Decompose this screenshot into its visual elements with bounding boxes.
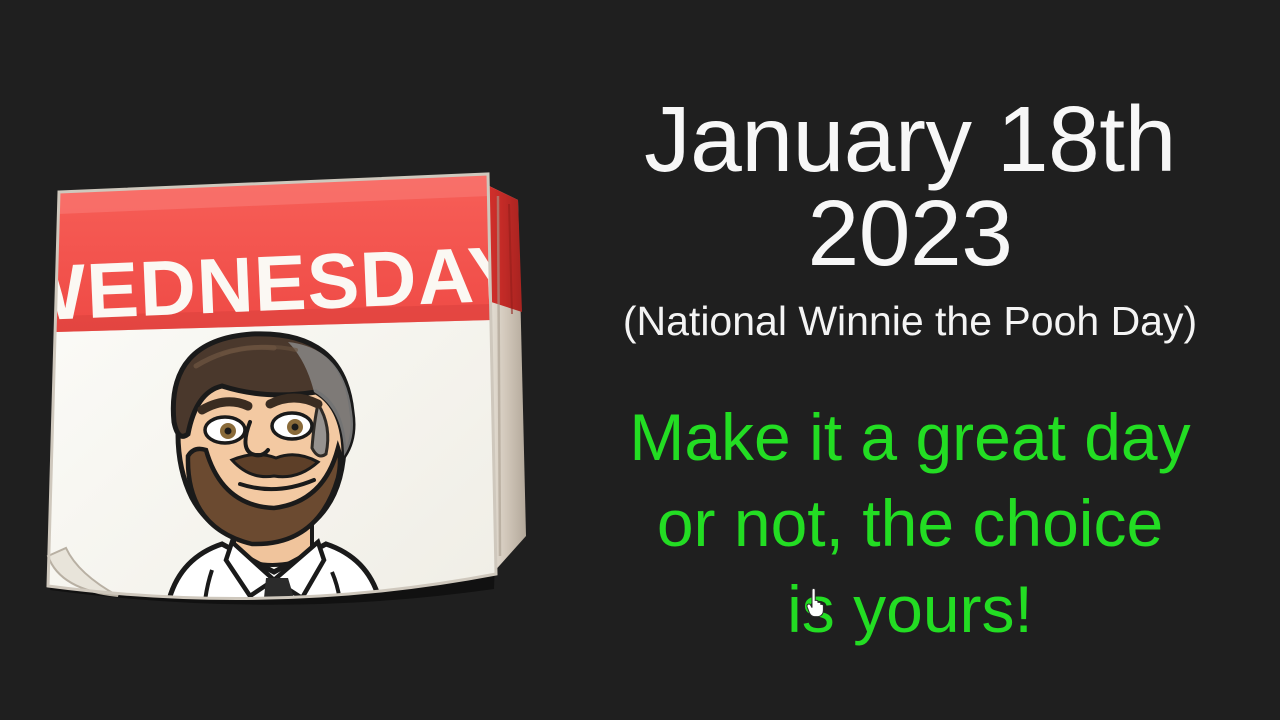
- calendar-illustration: WEDNESDAY: [26, 104, 546, 614]
- message-block: Make it a great day or not, the choice i…: [560, 394, 1260, 652]
- text-column: January 18th 2023 (National Winnie the P…: [560, 0, 1260, 720]
- message-line-3: is yours!: [560, 566, 1260, 652]
- message-line-1: Make it a great day: [560, 394, 1260, 480]
- date-block: January 18th 2023 (National Winnie the P…: [560, 0, 1260, 346]
- message-line-2: or not, the choice: [560, 480, 1260, 566]
- calendar-svg: WEDNESDAY: [26, 104, 546, 614]
- date-line-2: 2023: [560, 186, 1260, 280]
- holiday-label: (National Winnie the Pooh Day): [560, 296, 1260, 346]
- announcement-slide: WEDNESDAY: [0, 0, 1280, 720]
- tie-body: [268, 606, 294, 614]
- date-line-1: January 18th: [560, 92, 1260, 186]
